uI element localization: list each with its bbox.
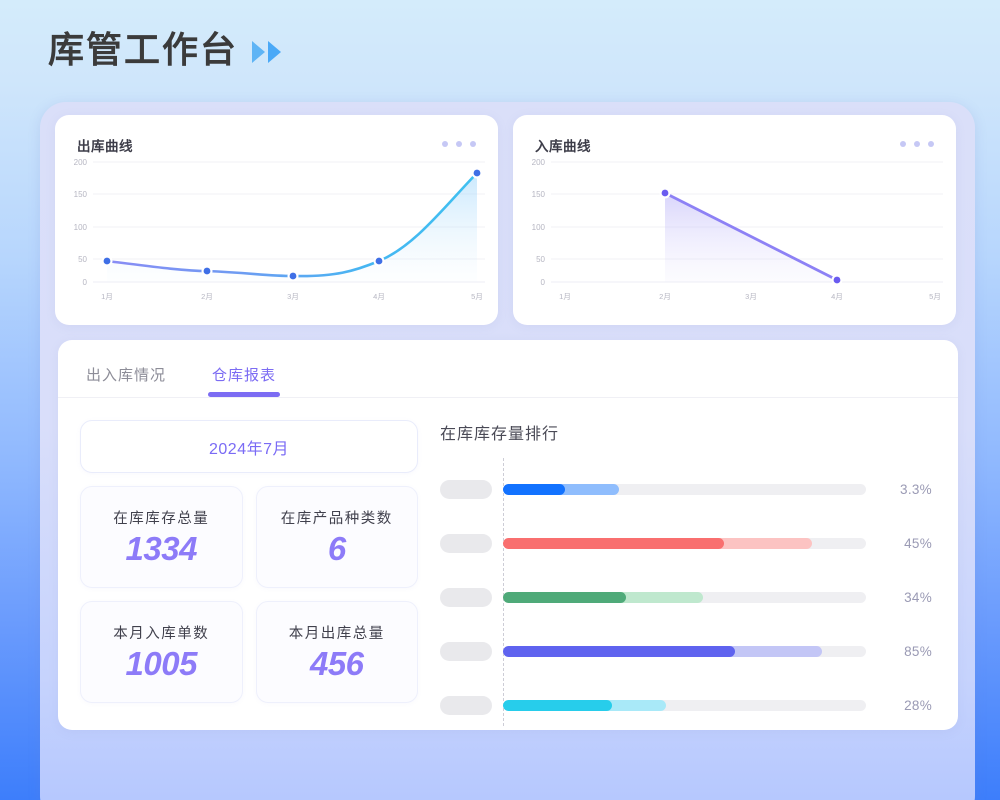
chevron-right-icon-1: [252, 41, 265, 63]
stat-label: 本月出库总量: [289, 622, 385, 643]
ranking-list: 3.3% 45%: [440, 458, 932, 732]
stat-card-inbound-orders[interactable]: 本月入库单数 1005: [80, 601, 243, 703]
line-chart-outbound: 200 150 100 50 0 1月 2月 3月 4月: [55, 151, 498, 325]
stats-column: 2024年7月 在库库存总量 1334 在库产品种类数 6 本月入库单数 100…: [58, 420, 418, 732]
chevron-right-icon-2: [268, 41, 281, 63]
svg-text:50: 50: [78, 255, 87, 264]
svg-text:2月: 2月: [659, 292, 671, 301]
ranking-row[interactable]: 85%: [440, 624, 932, 678]
ranking-label-placeholder: [440, 588, 492, 607]
stat-grid: 在库库存总量 1334 在库产品种类数 6 本月入库单数 1005 本月出库总量…: [80, 486, 418, 703]
tab-warehouse-report[interactable]: 仓库报表: [212, 364, 276, 397]
ranking-bar-track: [503, 538, 866, 549]
svg-text:5月: 5月: [471, 292, 483, 301]
ranking-bar-track: [503, 646, 866, 657]
stat-label: 在库库存总量: [113, 507, 209, 528]
svg-text:0: 0: [83, 278, 88, 287]
ranking-row[interactable]: 3.3%: [440, 462, 932, 516]
double-chevron-right-icon: [252, 41, 281, 63]
svg-text:2月: 2月: [201, 292, 213, 301]
ranking-bar-track: [503, 484, 866, 495]
svg-text:150: 150: [532, 190, 546, 199]
svg-text:5月: 5月: [929, 292, 941, 301]
svg-text:100: 100: [532, 223, 546, 232]
page-title: 库管工作台: [48, 32, 238, 68]
ranking-label-placeholder: [440, 642, 492, 661]
report-body: 2024年7月 在库库存总量 1334 在库产品种类数 6 本月入库单数 100…: [58, 398, 958, 732]
more-dots-icon-outbound[interactable]: [442, 141, 476, 147]
ranking-bar-dark: [503, 538, 724, 549]
ranking-label-placeholder: [440, 696, 492, 715]
stat-label: 本月入库单数: [113, 622, 209, 643]
svg-text:4月: 4月: [373, 292, 385, 301]
ranking-row[interactable]: 45%: [440, 516, 932, 570]
ranking-bar-dark: [503, 646, 735, 657]
report-tabs: 出入库情况 仓库报表: [58, 340, 958, 397]
report-card: 出入库情况 仓库报表 2024年7月 在库库存总量 1334 在库产品种类数 6: [58, 340, 958, 730]
stat-card-product-types[interactable]: 在库产品种类数 6: [256, 486, 419, 588]
ranking-percent: 45%: [880, 536, 932, 551]
svg-text:4月: 4月: [831, 292, 843, 301]
ranking-title: 在库库存量排行: [440, 420, 932, 444]
ranking-column: 在库库存量排行 3.3%: [418, 420, 958, 732]
dot-2: [914, 141, 920, 147]
chart-card-inbound: 入库曲线 200 150 100: [513, 115, 956, 325]
period-label: 2024年7月: [209, 435, 289, 459]
svg-text:1月: 1月: [559, 292, 571, 301]
stat-label: 在库产品种类数: [281, 507, 393, 528]
stat-value: 1334: [126, 530, 197, 568]
ranking-percent: 34%: [880, 590, 932, 605]
svg-text:100: 100: [74, 223, 88, 232]
ranking-bar-track: [503, 700, 866, 711]
stat-card-outbound-total[interactable]: 本月出库总量 456: [256, 601, 419, 703]
dot-3: [470, 141, 476, 147]
ranking-row[interactable]: 34%: [440, 570, 932, 624]
dot-2: [456, 141, 462, 147]
svg-text:200: 200: [74, 158, 88, 167]
ranking-label-placeholder: [440, 534, 492, 553]
dot-1: [900, 141, 906, 147]
svg-text:3月: 3月: [745, 292, 757, 301]
ranking-bar-dark: [503, 700, 612, 711]
ranking-percent: 3.3%: [880, 482, 932, 497]
ranking-bar-dark: [503, 484, 565, 495]
line-chart-inbound: 200 150 100 50 0 1月 2月 3月 4月 5月: [513, 151, 956, 325]
svg-text:150: 150: [74, 190, 88, 199]
dot-3: [928, 141, 934, 147]
ranking-label-placeholder: [440, 480, 492, 499]
stat-card-total-stock[interactable]: 在库库存总量 1334: [80, 486, 243, 588]
ranking-baseline: [503, 458, 504, 726]
svg-text:1月: 1月: [101, 292, 113, 301]
stat-value: 6: [328, 530, 346, 568]
ranking-bar-dark: [503, 592, 626, 603]
dot-1: [442, 141, 448, 147]
stat-value: 1005: [126, 645, 197, 683]
chart-card-outbound: 出库曲线: [55, 115, 498, 325]
charts-row: 出库曲线: [55, 115, 956, 325]
dashboard-panel: 出库曲线: [40, 102, 975, 800]
page-header: 库管工作台: [48, 32, 281, 68]
ranking-percent: 85%: [880, 644, 932, 659]
svg-text:200: 200: [532, 158, 546, 167]
ranking-bar-track: [503, 592, 866, 603]
svg-text:3月: 3月: [287, 292, 299, 301]
tab-inout-status[interactable]: 出入库情况: [86, 364, 166, 397]
period-selector[interactable]: 2024年7月: [80, 420, 418, 473]
ranking-row[interactable]: 28%: [440, 678, 932, 732]
ranking-percent: 28%: [880, 698, 932, 713]
more-dots-icon-inbound[interactable]: [900, 141, 934, 147]
svg-text:50: 50: [536, 255, 545, 264]
svg-text:0: 0: [541, 278, 546, 287]
stat-value: 456: [310, 645, 364, 683]
